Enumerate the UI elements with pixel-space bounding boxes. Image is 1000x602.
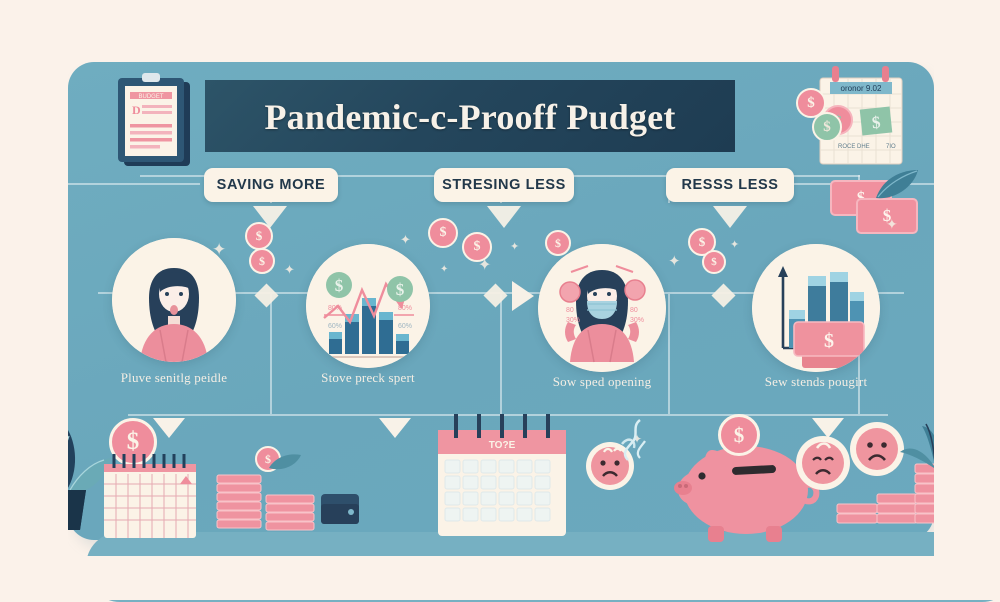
arrow-right-icon bbox=[512, 281, 534, 311]
desk-calendar-icon: TO?E bbox=[432, 412, 572, 543]
leaf-icon-left bbox=[268, 452, 302, 477]
sparkle-icon-4: ✦ bbox=[440, 264, 448, 275]
step-caption-4: Sew stends pougirt bbox=[748, 374, 884, 390]
left-margin bbox=[0, 0, 68, 600]
wallet-icon bbox=[320, 490, 360, 531]
svg-text:BUDGET: BUDGET bbox=[138, 94, 163, 100]
svg-text:60%: 60% bbox=[328, 323, 342, 330]
coin-icon-9: $ bbox=[702, 250, 726, 274]
svg-text:ROCE DHE: ROCE DHE bbox=[838, 144, 870, 150]
svg-text:$: $ bbox=[824, 330, 834, 352]
coin-icon-7: $ bbox=[545, 230, 571, 256]
svg-text:D: D bbox=[132, 103, 141, 117]
coin-stack-icon-1 bbox=[215, 470, 263, 535]
masked-woman-icon: 80 30% 80 30% bbox=[538, 244, 666, 372]
svg-text:7IO: 7IO bbox=[886, 144, 896, 150]
coin-stack-icon-3 bbox=[836, 488, 878, 531]
flow-pill-resss-less[interactable]: RESSS LESS bbox=[666, 168, 794, 202]
flow-pill-saving-more[interactable]: SAVING MORE bbox=[204, 168, 338, 202]
sparkle-icon-7: ✦ bbox=[668, 252, 681, 270]
flow-pill-stresing-less[interactable]: STRESING LESS bbox=[434, 168, 574, 202]
svg-text:30%: 30% bbox=[566, 317, 580, 324]
step-caption-1: Pluve senitlg peidle bbox=[112, 370, 236, 386]
coin-stack-icon-2 bbox=[264, 486, 316, 537]
step-caption-3: Sow sped opening bbox=[534, 374, 670, 390]
step-icon-bar-chart[interactable]: $ $ 80% 60% 80% 60% bbox=[306, 244, 430, 368]
connector-col-2 bbox=[500, 294, 502, 414]
connector-left-stub bbox=[68, 183, 200, 185]
steam-icon bbox=[620, 418, 660, 467]
arrow-down-icon-2 bbox=[487, 206, 521, 228]
infographic-canvas: Pandemic-c-Prooff Pudget SAVING MORE STR… bbox=[0, 0, 1000, 600]
step-icon-masked-woman[interactable]: 80 30% 80 30% bbox=[538, 244, 666, 372]
top-margin bbox=[0, 0, 1000, 62]
pill-label: RESSS LESS bbox=[681, 177, 778, 193]
svg-text:80%: 80% bbox=[328, 305, 342, 312]
svg-text:$: $ bbox=[335, 276, 344, 295]
svg-text:oronor 9.02: oronor 9.02 bbox=[841, 84, 882, 93]
svg-text:80: 80 bbox=[566, 307, 574, 314]
desk-calendar-icon-left bbox=[98, 452, 202, 545]
page-title: Pandemic-c-Prooff Pudget bbox=[205, 86, 735, 148]
svg-text:$: $ bbox=[396, 280, 405, 299]
right-margin bbox=[934, 0, 1000, 600]
sparkle-icon-5: ✦ bbox=[478, 255, 491, 275]
sparkle-icon-3: ✦ bbox=[400, 232, 411, 248]
step-icon-chart-banknote[interactable]: $ bbox=[752, 244, 880, 372]
step-caption-2: Stove preck spert bbox=[300, 370, 436, 386]
coin-icon-5: $ bbox=[428, 218, 458, 248]
svg-text:TO?E: TO?E bbox=[489, 440, 516, 451]
coin-stack-icon-4 bbox=[876, 474, 918, 531]
svg-text:30%: 30% bbox=[630, 317, 644, 324]
svg-text:80: 80 bbox=[630, 307, 638, 314]
coin-icon-2: $ bbox=[812, 112, 842, 142]
clipboard-icon: BUDGET D bbox=[116, 72, 194, 173]
leaf-icon-right bbox=[874, 168, 920, 207]
arrow-down-icon-4 bbox=[153, 418, 185, 438]
connector-col-3 bbox=[668, 294, 670, 414]
bottom-margin bbox=[0, 556, 1000, 600]
sparkle-icon-9: ✦ bbox=[886, 216, 898, 233]
sparkle-icon-6: ✦ bbox=[510, 240, 519, 253]
connector-col-1 bbox=[270, 294, 272, 414]
sparkle-icon-8: ✦ bbox=[730, 238, 739, 251]
arrow-down-icon-3 bbox=[713, 206, 747, 228]
bar-chart-icon: $ $ 80% 60% 80% 60% bbox=[306, 244, 430, 368]
chart-banknote-icon: $ bbox=[752, 244, 880, 372]
sparkle-icon-2: ✦ bbox=[284, 262, 295, 278]
svg-text:60%: 60% bbox=[398, 323, 412, 330]
arrow-down-icon-5 bbox=[379, 418, 411, 438]
pill-label: SAVING MORE bbox=[217, 177, 326, 193]
coin-icon-12: $ bbox=[718, 414, 760, 456]
coin-icon-3: $ bbox=[245, 222, 273, 250]
pill-label: STRESING LESS bbox=[442, 177, 566, 193]
svg-text:80%: 80% bbox=[398, 305, 412, 312]
coin-icon-4: $ bbox=[249, 248, 275, 274]
sparkle-icon-1: ✦ bbox=[212, 240, 226, 260]
